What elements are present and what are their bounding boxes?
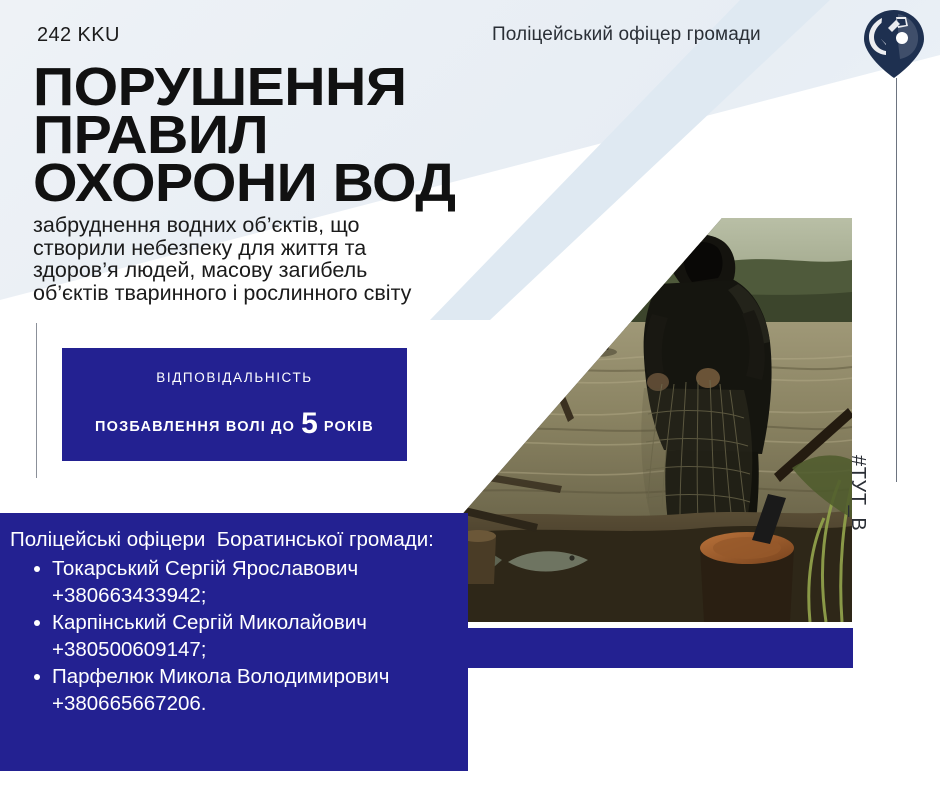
- penalty-sentence-prefix: ПОЗБАВЛЕННЯ ВОЛІ ДО: [95, 419, 295, 435]
- subtitle-description: забруднення водних об’єктів, що створили…: [33, 214, 533, 304]
- subtitle-line-4: об’єктів тваринного і рослинного світу: [33, 282, 533, 305]
- vertical-rule-left: [36, 323, 37, 478]
- photo-bottom-band: [458, 628, 853, 668]
- police-officer-logo-icon: [862, 8, 926, 80]
- officer-phone[interactable]: +380500609147;: [52, 636, 456, 663]
- officer-name: Токарський Сергій Ярославович: [52, 555, 456, 582]
- penalty-years-value: 5: [301, 407, 318, 441]
- subtitle-line-3: здоров’я людей, масову загибель: [33, 259, 533, 282]
- page-title: ПОРУШЕННЯ ПРАВИЛ ОХОРОНИ ВОД: [33, 63, 432, 207]
- officer-phone[interactable]: +380663433942;: [52, 582, 456, 609]
- officers-heading: Поліцейські офіцери Боратинської громади…: [10, 527, 456, 553]
- title-line-3: ОХОРОНИ ВОД: [33, 159, 456, 207]
- poster-root: 242 KKU Поліцейський офіцер громади ПОРУ…: [0, 0, 940, 788]
- subtitle-line-2: створили небезпеку для життя та: [33, 237, 533, 260]
- vertical-rule-right: [896, 78, 897, 482]
- subtitle-line-1: забруднення водних об’єктів, що: [33, 214, 533, 237]
- officer-phone[interactable]: +380665667206.: [52, 690, 456, 717]
- title-line-1: ПОРУШЕННЯ: [33, 63, 456, 111]
- header-tagline: Поліцейський офіцер громади: [492, 24, 761, 46]
- penalty-sentence: ПОЗБАВЛЕННЯ ВОЛІ ДО 5 РОКІВ: [95, 405, 374, 439]
- penalty-label: ВІДПОВІДАЛЬНІСТЬ: [156, 370, 313, 385]
- penalty-sentence-suffix: РОКІВ: [324, 419, 374, 435]
- officer-name: Карпінський Сергій Миколайович: [52, 609, 456, 636]
- officers-list: Токарський Сергій Ярославович +380663433…: [10, 555, 456, 717]
- list-item: Парфелюк Микола Володимирович +380665667…: [32, 663, 456, 717]
- penalty-box: ВІДПОВІДАЛЬНІСТЬ ПОЗБАВЛЕННЯ ВОЛІ ДО 5 Р…: [62, 348, 407, 461]
- title-line-2: ПРАВИЛ: [33, 111, 456, 159]
- vertical-hashtag: #ТУТ_В: [846, 455, 869, 531]
- article-code: 242 KKU: [37, 24, 120, 47]
- list-item: Токарський Сергій Ярославович +380663433…: [32, 555, 456, 609]
- list-item: Карпінський Сергій Миколайович +38050060…: [32, 609, 456, 663]
- officer-name: Парфелюк Микола Володимирович: [52, 663, 456, 690]
- officers-contact-box: Поліцейські офіцери Боратинської громади…: [0, 513, 468, 771]
